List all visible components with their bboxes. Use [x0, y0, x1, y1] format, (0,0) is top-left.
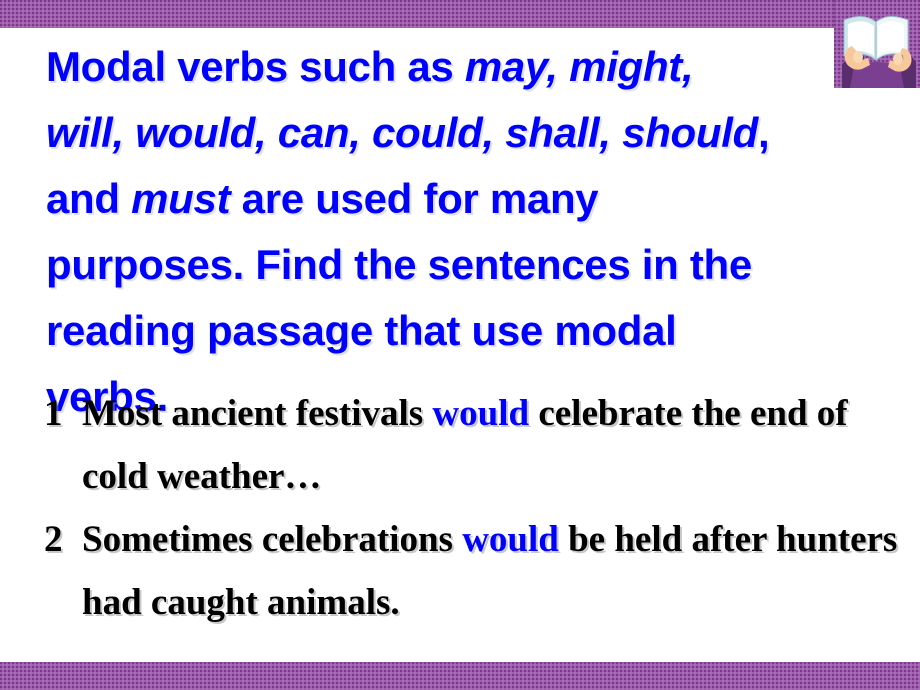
- answer-list: 1Most ancient festivals would celebrate …: [44, 382, 904, 634]
- list-item: 1Most ancient festivals would celebrate …: [44, 382, 904, 508]
- sentence-text: Most ancient festivals: [82, 393, 432, 434]
- list-item-number: 1: [44, 382, 63, 445]
- modal-verb-emphasis: must: [131, 175, 230, 222]
- modal-verb-highlight: would: [432, 393, 529, 434]
- page-title-line: purposes. Find the sentences in the: [46, 232, 846, 298]
- title-text: purposes. Find the sentences in the: [46, 241, 752, 288]
- bottom-decorative-band: [0, 662, 920, 690]
- title-text: are used for many: [230, 175, 598, 222]
- title-text: Modal verbs such as: [46, 43, 465, 90]
- list-item: 2Sometimes celebrations would be held af…: [44, 508, 904, 634]
- page-title-line: and must are used for many: [46, 166, 846, 232]
- page-title-line: reading passage that use modal: [46, 298, 846, 364]
- modal-verb-highlight: would: [462, 519, 559, 560]
- sentence-text: Sometimes celebrations: [82, 519, 462, 560]
- title-text: reading passage that use modal: [46, 307, 677, 354]
- list-item-number: 2: [44, 508, 63, 571]
- page-title: Modal verbs such as may, might,will, wou…: [46, 34, 846, 430]
- modal-verb-emphasis: may, might,: [465, 43, 694, 90]
- hands-holding-open-book-image: [834, 0, 920, 88]
- modal-verb-emphasis: will, would, can, could, shall, should: [46, 109, 758, 156]
- page-title-line: Modal verbs such as may, might,: [46, 34, 846, 100]
- list-item-text: Sometimes celebrations would be held aft…: [82, 508, 904, 634]
- page-title-line: will, would, can, could, shall, should,: [46, 100, 846, 166]
- title-text: ,: [758, 109, 769, 156]
- slide-canvas: Modal verbs such as may, might,will, wou…: [0, 0, 920, 690]
- top-decorative-band: [0, 0, 920, 28]
- title-text: and: [46, 175, 131, 222]
- list-item-text: Most ancient festivals would celebrate t…: [82, 382, 904, 508]
